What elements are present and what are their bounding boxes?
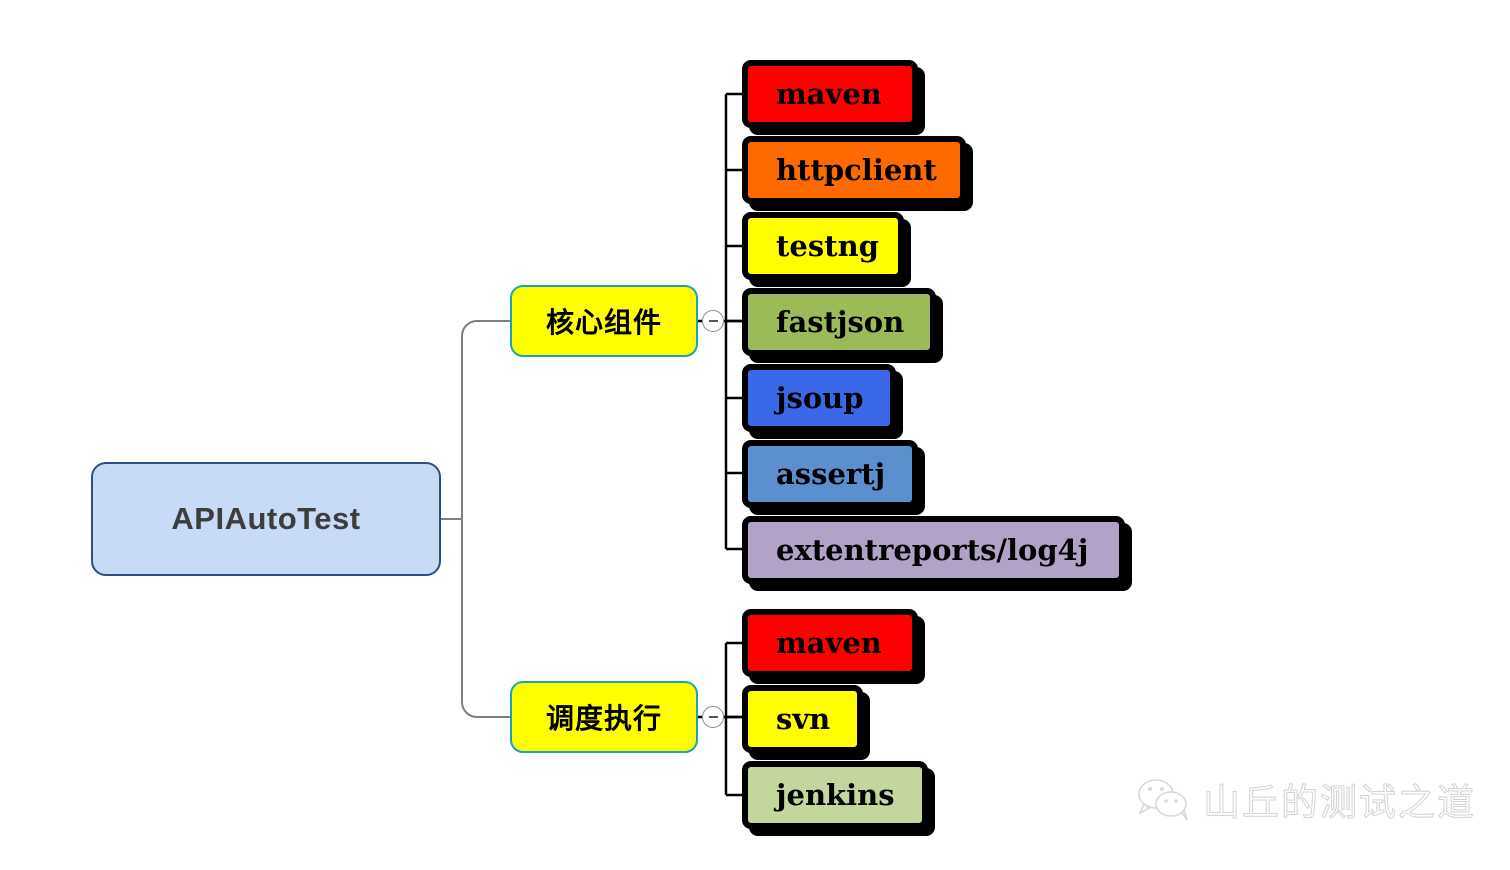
mindmap-canvas: APIAutoTest 核心组件 maven httpclient testng… bbox=[0, 0, 1510, 870]
collapse-toggle-core-components[interactable] bbox=[702, 310, 724, 332]
minus-icon bbox=[709, 716, 718, 718]
leaf-node-svn[interactable]: svn bbox=[742, 685, 863, 753]
leaf-node-label: maven bbox=[776, 626, 882, 660]
branch-node-label: 核心组件 bbox=[546, 301, 662, 341]
minus-icon bbox=[709, 320, 718, 322]
leaf-node-httpclient[interactable]: httpclient bbox=[742, 136, 966, 204]
branch-node-label: 调度执行 bbox=[546, 697, 662, 737]
wechat-logo-icon bbox=[1137, 777, 1191, 821]
leaf-node-label: jsoup bbox=[776, 381, 864, 415]
leaf-node-label: extentreports/log4j bbox=[776, 533, 1088, 567]
leaf-node-label: svn bbox=[776, 702, 830, 736]
watermark: 山丘的测试之道 bbox=[1137, 772, 1476, 826]
leaf-node-jenkins[interactable]: jenkins bbox=[742, 761, 928, 829]
root-node-apiautotest[interactable]: APIAutoTest bbox=[91, 462, 441, 576]
leaf-node-label: httpclient bbox=[776, 153, 937, 187]
leaf-node-label: testng bbox=[776, 229, 879, 263]
branch-node-schedule-execution[interactable]: 调度执行 bbox=[510, 681, 698, 753]
watermark-text: 山丘的测试之道 bbox=[1203, 772, 1476, 826]
leaf-node-maven-schedule[interactable]: maven bbox=[742, 609, 918, 677]
leaf-node-testng[interactable]: testng bbox=[742, 212, 904, 280]
branch-node-core-components[interactable]: 核心组件 bbox=[510, 285, 698, 357]
root-node-label: APIAutoTest bbox=[171, 501, 360, 537]
leaf-node-fastjson[interactable]: fastjson bbox=[742, 288, 936, 356]
leaf-node-label: maven bbox=[776, 77, 882, 111]
leaf-node-label: assertj bbox=[776, 457, 885, 491]
leaf-node-maven[interactable]: maven bbox=[742, 60, 918, 128]
leaf-node-label: jenkins bbox=[776, 778, 895, 812]
leaf-node-extentreports-log4j[interactable]: extentreports/log4j bbox=[742, 516, 1125, 584]
leaf-node-jsoup[interactable]: jsoup bbox=[742, 364, 896, 432]
collapse-toggle-schedule-execution[interactable] bbox=[702, 706, 724, 728]
leaf-node-assertj[interactable]: assertj bbox=[742, 440, 918, 508]
leaf-node-label: fastjson bbox=[776, 305, 904, 339]
